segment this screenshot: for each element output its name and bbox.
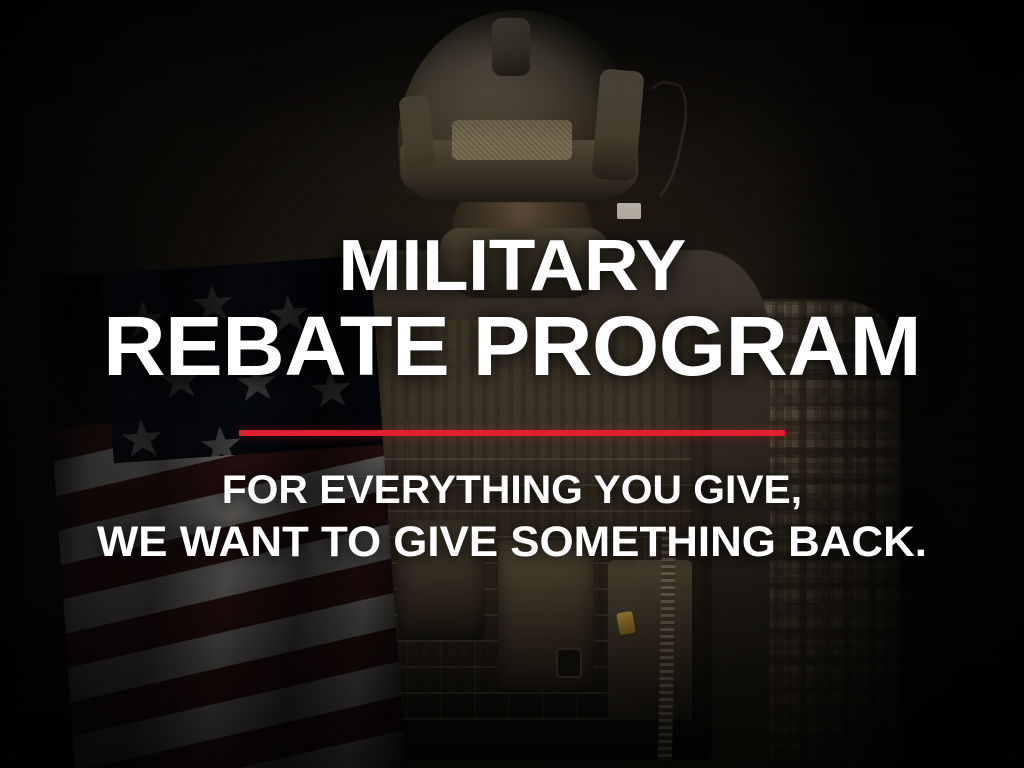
subtitle-line-2: WE WANT TO GIVE SOMETHING BACK. [97, 518, 927, 566]
headline-line-1: MILITARY [91, 233, 933, 301]
page-title: MILITARY REBATE PROGRAM [115, 21, 909, 386]
subtitle-line-1: FOR EVERYTHING YOU GIVE, [97, 468, 927, 513]
page-subtitle: FOR EVERYTHING YOU GIVE, WE WANT TO GIVE… [105, 468, 919, 567]
red-divider-rule [239, 430, 785, 436]
banner-text-overlay: MILITARY REBATE PROGRAM FOR EVERYTHING Y… [0, 0, 1024, 768]
headline-line-2: REBATE PROGRAM [103, 307, 921, 386]
military-rebate-banner: MILITARY REBATE PROGRAM FOR EVERYTHING Y… [0, 0, 1024, 768]
